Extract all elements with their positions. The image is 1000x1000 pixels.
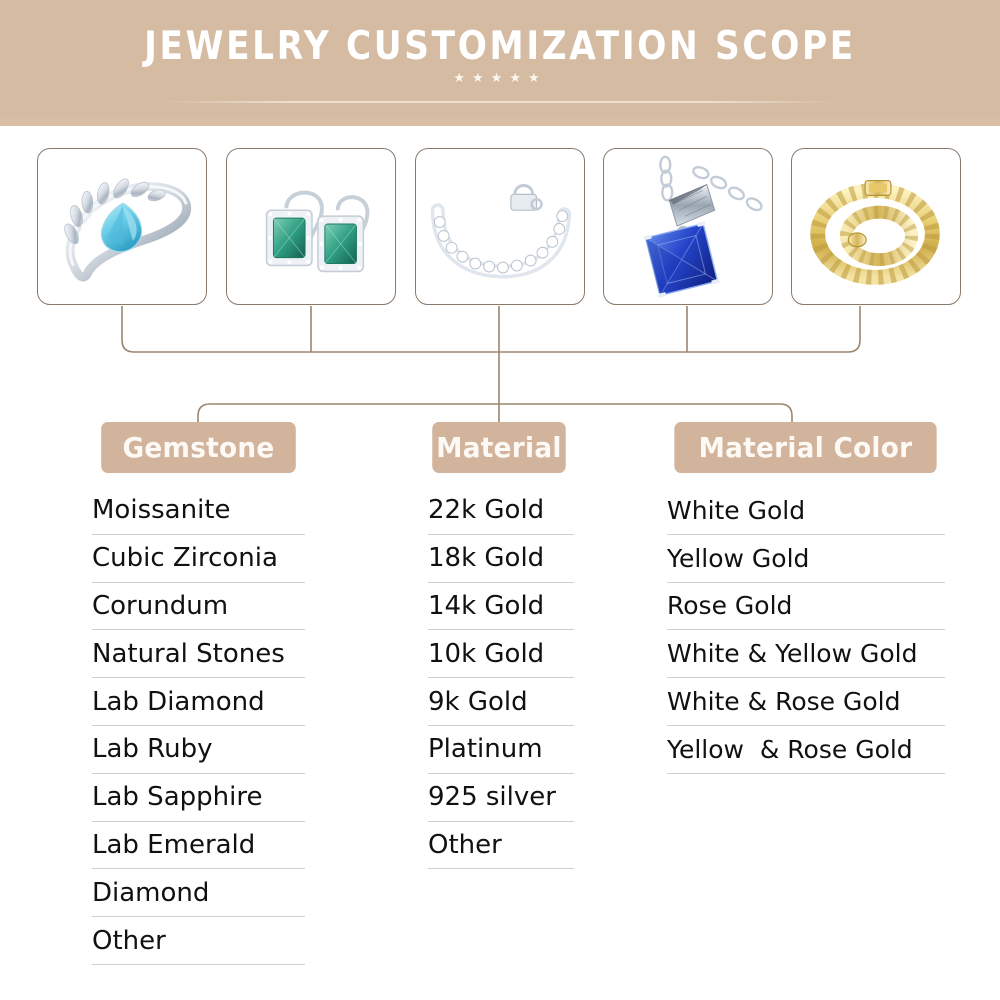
badge-material-color[interactable]: Material Color bbox=[674, 422, 936, 473]
list-item[interactable]: 925 silver bbox=[428, 774, 574, 822]
product-card-chain[interactable] bbox=[791, 148, 961, 305]
list-item[interactable]: 18k Gold bbox=[428, 535, 574, 583]
list-item[interactable]: Lab Sapphire bbox=[92, 774, 305, 822]
list-item[interactable]: Rose Gold bbox=[667, 583, 945, 631]
product-card-ring[interactable] bbox=[37, 148, 207, 305]
list-item[interactable]: 14k Gold bbox=[428, 583, 574, 631]
list-item[interactable]: White Gold bbox=[667, 487, 945, 535]
list-item[interactable]: 9k Gold bbox=[428, 678, 574, 726]
list-item[interactable]: 10k Gold bbox=[428, 630, 574, 678]
list-item[interactable]: White & Rose Gold bbox=[667, 678, 945, 726]
page-title: JEWELRY CUSTOMIZATION SCOPE bbox=[60, 24, 940, 69]
list-item[interactable]: Platinum bbox=[428, 726, 574, 774]
badge-material[interactable]: Material bbox=[432, 422, 565, 473]
list-item[interactable]: Natural Stones bbox=[92, 630, 305, 678]
list-item[interactable]: Other bbox=[428, 822, 574, 870]
list-item[interactable]: Cubic Zirconia bbox=[92, 535, 305, 583]
product-card-necklace[interactable] bbox=[603, 148, 773, 305]
earrings-image bbox=[227, 149, 395, 304]
list-item[interactable]: Moissanite bbox=[92, 487, 305, 535]
product-card-row bbox=[0, 148, 1000, 306]
list-material-color: White Gold Yellow Gold Rose Gold White &… bbox=[667, 487, 945, 774]
product-card-bracelet[interactable] bbox=[415, 148, 585, 305]
list-item[interactable]: Lab Diamond bbox=[92, 678, 305, 726]
list-item[interactable]: 22k Gold bbox=[428, 487, 574, 535]
header-divider bbox=[160, 101, 840, 103]
list-item[interactable]: Yellow & Rose Gold bbox=[667, 726, 945, 774]
necklace-image bbox=[604, 149, 772, 304]
product-card-earrings[interactable] bbox=[226, 148, 396, 305]
list-item[interactable]: Other bbox=[92, 917, 305, 965]
bracelet-image bbox=[416, 149, 584, 304]
gold-chain-image bbox=[792, 149, 960, 304]
list-item[interactable]: Corundum bbox=[92, 583, 305, 631]
ring-image bbox=[38, 149, 206, 304]
header-band: JEWELRY CUSTOMIZATION SCOPE ★★★★★ bbox=[0, 0, 1000, 126]
list-item[interactable]: Lab Emerald bbox=[92, 822, 305, 870]
list-item[interactable]: White & Yellow Gold bbox=[667, 630, 945, 678]
badge-gemstone[interactable]: Gemstone bbox=[101, 422, 296, 473]
list-item[interactable]: Yellow Gold bbox=[667, 535, 945, 583]
list-material: 22k Gold 18k Gold 14k Gold 10k Gold 9k G… bbox=[428, 487, 574, 869]
list-item[interactable]: Lab Ruby bbox=[92, 726, 305, 774]
star-rating-icon: ★★★★★ bbox=[0, 72, 1000, 85]
list-gemstone: Moissanite Cubic Zirconia Corundum Natur… bbox=[92, 487, 305, 965]
list-item[interactable]: Diamond bbox=[92, 869, 305, 917]
